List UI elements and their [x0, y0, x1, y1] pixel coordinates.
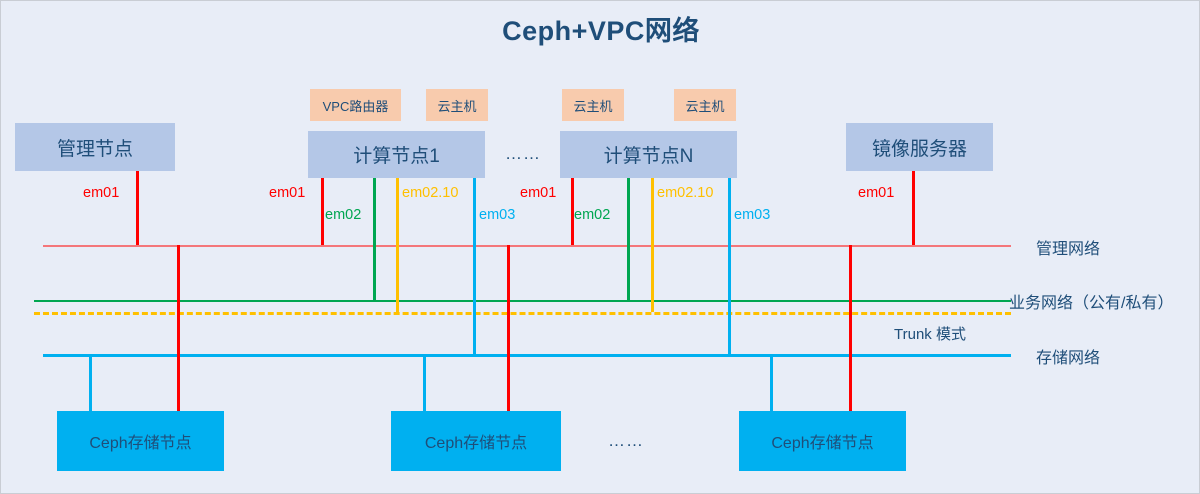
interface-label-em02-2: em02: [325, 207, 361, 223]
interface-label-em01-5: em01: [520, 185, 556, 201]
interface-label-em03-8: em03: [734, 207, 770, 223]
storage2-red-drop-link: [507, 245, 510, 411]
ceph-storage-node-1[interactable]: Ceph存储节点: [57, 411, 224, 471]
ceph-storage-node-3[interactable]: Ceph存储节点: [739, 411, 906, 471]
vm-box-label: 云主机: [573, 96, 612, 115]
vm-box-2[interactable]: 云主机: [562, 89, 624, 121]
mgmt-to-storage-1-link: [177, 245, 180, 411]
compute1-em03-link: [473, 178, 476, 354]
page-title: Ceph+VPC网络: [1, 9, 1200, 48]
compute1-em02-link: [373, 178, 376, 300]
service-network-line: [34, 300, 1011, 302]
mgmt-node-em01-link: [136, 171, 139, 245]
storage3-cyan-drop-link: [770, 354, 773, 411]
vm-box-3[interactable]: 云主机: [674, 89, 736, 121]
compute-node-1-box[interactable]: 计算节点1: [308, 131, 485, 178]
interface-label-em01-9: em01: [858, 185, 894, 201]
interface-label-em02-10-3: em02.10: [402, 185, 458, 201]
interface-label-em02-6: em02: [574, 207, 610, 223]
storage-network-label: 存储网络: [1036, 344, 1100, 368]
computeN-em02-link: [627, 178, 630, 300]
storage2-cyan-drop-link: [423, 354, 426, 411]
vm-box-1[interactable]: 云主机: [426, 89, 488, 121]
interface-label-em02-10-7: em02.10: [657, 185, 713, 201]
storage-network-line: [43, 354, 1011, 357]
ceph-storage-node-label: Ceph存储节点: [771, 429, 873, 453]
image-server-label: 镜像服务器: [872, 134, 967, 161]
compute1-em02-10-link: [396, 178, 399, 312]
computeN-em02-10-link: [651, 178, 654, 312]
vm-box-0[interactable]: VPC路由器: [310, 89, 401, 121]
management-network-label: 管理网络: [1036, 235, 1100, 259]
network-diagram-canvas: Ceph+VPC网络 VPC路由器云主机云主机云主机 管理节点计算节点1计算节点…: [0, 0, 1200, 494]
storage3-red-drop-link: [849, 245, 852, 411]
ceph-storage-node-label: Ceph存储节点: [425, 429, 527, 453]
storage1-cyan-drop-link: [89, 354, 92, 411]
compute-node-n-box[interactable]: 计算节点N: [560, 131, 737, 178]
compute-node-n-label: 计算节点N: [604, 141, 694, 168]
interface-label-em03-4: em03: [479, 207, 515, 223]
image-server-em01-link: [912, 171, 915, 245]
ceph-storage-node-label: Ceph存储节点: [89, 429, 191, 453]
compute1-em01-link: [321, 178, 324, 245]
interface-label-em01-0: em01: [83, 185, 119, 201]
compute-node-1-label: 计算节点1: [353, 141, 440, 168]
trunk-line-line: [34, 312, 1011, 315]
interface-label-em01-1: em01: [269, 185, 305, 201]
vm-box-label: 云主机: [685, 96, 724, 115]
vm-box-label: 云主机: [437, 96, 476, 115]
computeN-em03-link: [728, 178, 731, 354]
service-network-label: 业务网络（公有/私有）: [1009, 289, 1173, 313]
ellipsis-separator-2: ……: [608, 431, 644, 451]
trunk-line-label: Trunk 模式: [894, 323, 966, 344]
image-server-box[interactable]: 镜像服务器: [846, 123, 993, 171]
vm-box-label: VPC路由器: [323, 96, 389, 115]
management-node-box[interactable]: 管理节点: [15, 123, 175, 171]
ceph-storage-node-2[interactable]: Ceph存储节点: [391, 411, 561, 471]
ellipsis-separator-1: ……: [505, 144, 541, 164]
management-network-line: [43, 245, 1011, 247]
management-node-label: 管理节点: [57, 134, 133, 161]
